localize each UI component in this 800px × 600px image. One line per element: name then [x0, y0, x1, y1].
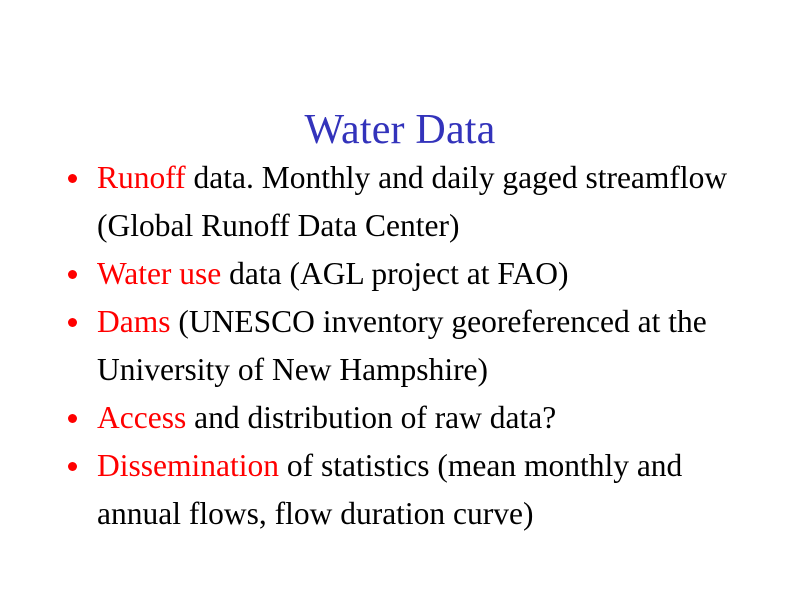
bullet-dot-icon: [68, 414, 77, 423]
list-item-keyword: Runoff: [97, 160, 186, 195]
list-item-body: and distribution of raw data?: [186, 400, 556, 435]
list-item-body: data (AGL project at FAO): [221, 256, 568, 291]
list-item-text: Dissemination of statistics (mean monthl…: [97, 442, 762, 538]
presentation-slide: Water Data Runoff data. Monthly and dail…: [0, 0, 800, 600]
list-item-keyword: Water use: [97, 256, 221, 291]
list-item: Access and distribution of raw data?: [62, 394, 762, 442]
list-item: Water use data (AGL project at FAO): [62, 250, 762, 298]
bullet-dot-icon: [68, 462, 77, 471]
bullet-dot-icon: [68, 174, 77, 183]
list-item-text: Dams (UNESCO inventory georeferenced at …: [97, 298, 762, 394]
bullet-dot-icon: [68, 318, 77, 327]
list-item-text: Water use data (AGL project at FAO): [97, 250, 762, 298]
list-item-text: Access and distribution of raw data?: [97, 394, 762, 442]
page-title: Water Data: [0, 106, 800, 154]
list-item: Dissemination of statistics (mean monthl…: [62, 442, 762, 538]
list-item: Runoff data. Monthly and daily gaged str…: [62, 154, 762, 250]
list-item-body: (UNESCO inventory georeferenced at the U…: [97, 304, 707, 387]
bullet-dot-icon: [68, 270, 77, 279]
list-item-body: data. Monthly and daily gaged streamflow…: [97, 160, 727, 243]
list-item: Dams (UNESCO inventory georeferenced at …: [62, 298, 762, 394]
list-item-text: Runoff data. Monthly and daily gaged str…: [97, 154, 762, 250]
list-item-keyword: Dams: [97, 304, 171, 339]
list-item-keyword: Dissemination: [97, 448, 279, 483]
list-item-keyword: Access: [97, 400, 186, 435]
bullet-list: Runoff data. Monthly and daily gaged str…: [62, 154, 762, 538]
